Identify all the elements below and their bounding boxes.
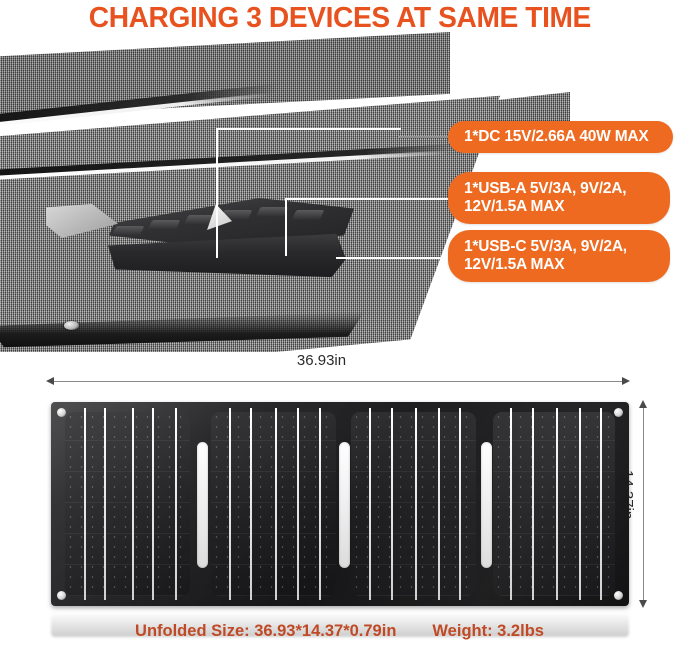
footer-weight: Weight: 3.2lbs — [432, 622, 544, 641]
panel-grommet-top-right — [614, 408, 623, 417]
leader-line-dc-vertical — [216, 128, 218, 258]
arrow-down-icon — [639, 600, 647, 608]
panel-slot-3 — [481, 442, 492, 568]
leader-line-usba-vertical — [285, 198, 287, 256]
arrow-up-icon — [639, 400, 647, 408]
arrow-left-icon — [46, 377, 54, 385]
callout-usb-a-spec: 1*USB-A 5V/3A, 9V/2A, 12V/1.5A MAX — [448, 172, 670, 224]
leader-line-usbc-horizontal — [336, 257, 456, 259]
arrow-right-icon — [622, 377, 630, 385]
callout-dc-spec: 1*DC 15V/2.66A 40W MAX — [448, 121, 673, 153]
callout-usbc-lines: 1*USB-C 5V/3A, 9V/2A, 12V/1.5A MAX — [464, 238, 627, 275]
callout-usbc-line2: 12V/1.5A MAX — [464, 256, 564, 273]
junction-box — [104, 198, 354, 286]
callout-usba-line2: 12V/1.5A MAX — [464, 198, 564, 215]
panel-grommet-bottom-left — [57, 591, 66, 600]
dimension-width-label: 36.93in — [0, 352, 679, 369]
callout-usb-c-spec: 1*USB-C 5V/3A, 9V/2A, 12V/1.5A MAX — [448, 230, 670, 282]
callout-dc-line1: 1*DC 15V/2.66A 40W MAX — [464, 128, 649, 146]
panel-slot-1 — [197, 442, 208, 568]
footer-unfolded-size: Unfolded Size: 36.93*14.37*0.79in — [135, 622, 396, 641]
panel-grommet-bottom-right — [614, 591, 623, 600]
dimension-height-line — [643, 402, 644, 606]
callout-usbc-line1: 1*USB-C 5V/3A, 9V/2A, — [464, 238, 627, 255]
dimension-diagram: 36.93in 14.37in — [0, 352, 679, 648]
leader-line-dc-to-pill — [399, 136, 451, 138]
dimension-width-line — [48, 381, 628, 382]
panel-grommet-top-left — [57, 408, 66, 417]
leader-line-usba-horizontal — [285, 198, 455, 200]
panel-slot-2 — [339, 442, 350, 568]
fabric-corner-grommet — [64, 321, 79, 330]
callout-usba-line1: 1*USB-A 5V/3A, 9V/2A, — [464, 180, 626, 197]
callout-usba-lines: 1*USB-A 5V/3A, 9V/2A, 12V/1.5A MAX — [464, 180, 626, 217]
leader-line-dc-horizontal — [216, 128, 401, 130]
solar-panel-unfolded — [51, 402, 629, 606]
page-title-bar: CHARGING 3 DEVICES AT SAME TIME — [0, 0, 679, 36]
footer-specs: Unfolded Size: 36.93*14.37*0.79in Weight… — [0, 622, 679, 641]
page-title: CHARGING 3 DEVICES AT SAME TIME — [88, 2, 590, 35]
solar-panel-fabric-strip-top — [0, 32, 450, 118]
